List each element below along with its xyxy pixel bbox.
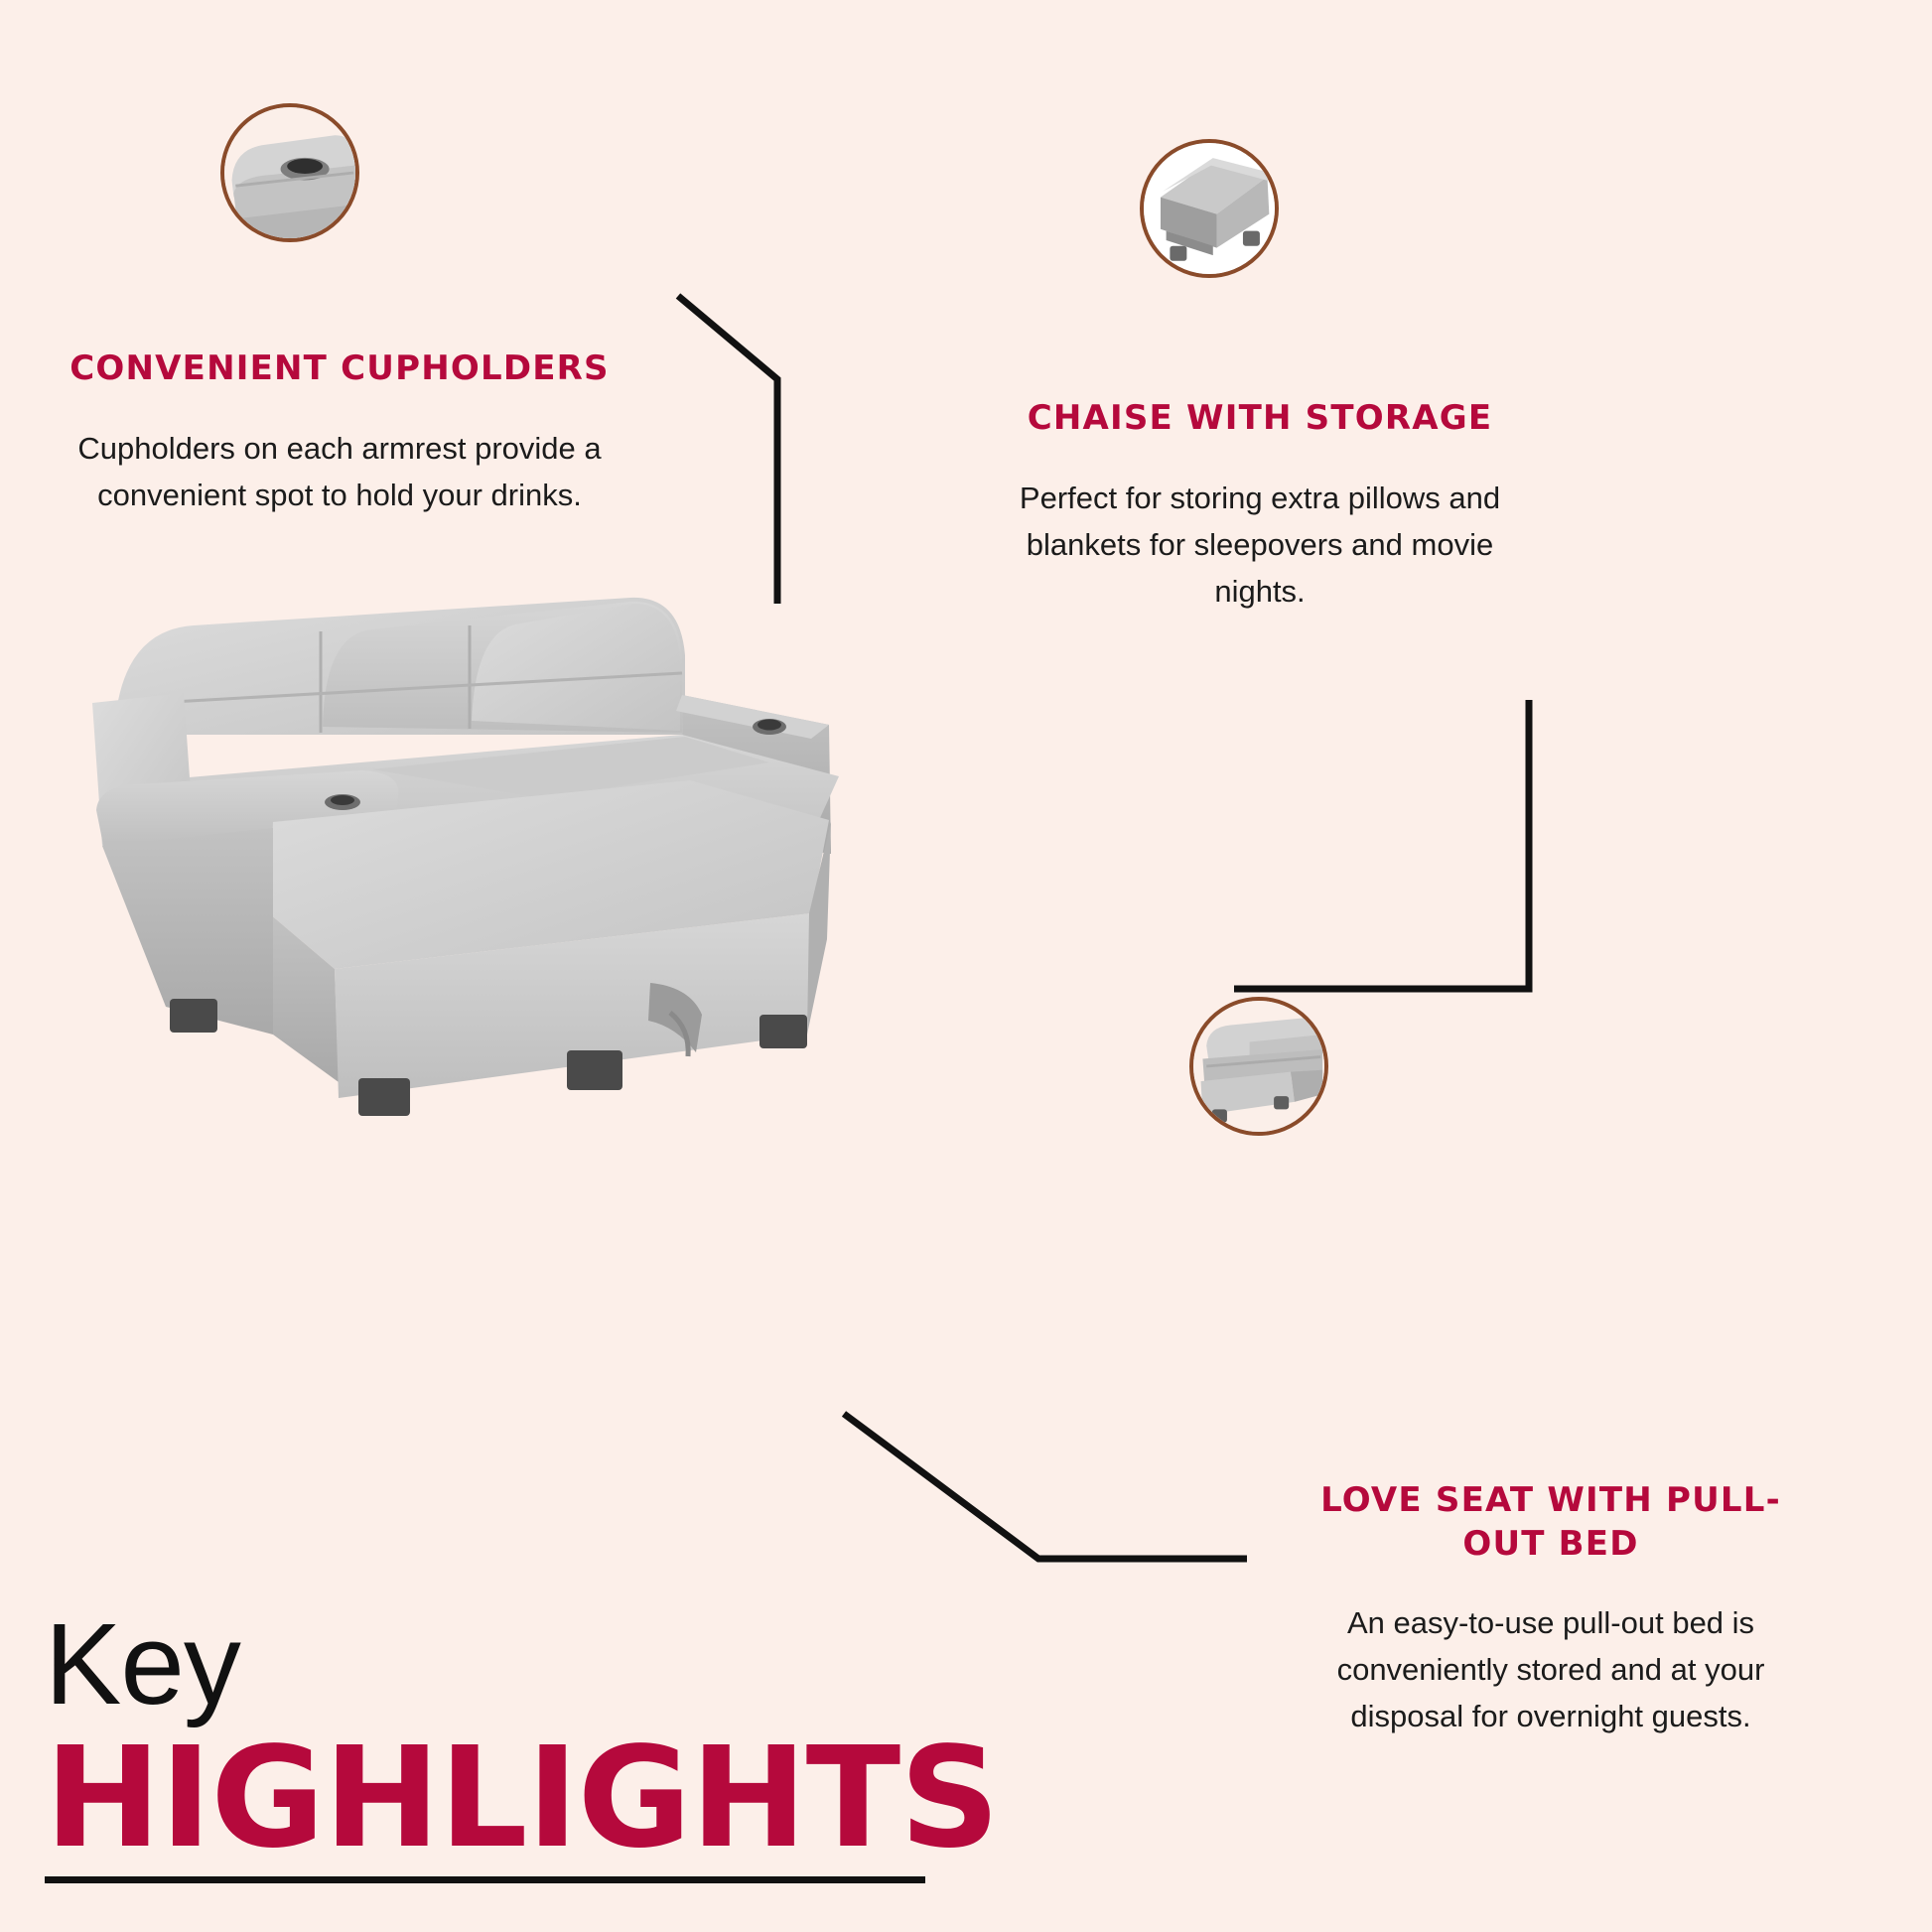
connector-chaise-storage	[1234, 700, 1529, 989]
product-image-sectional-sofa	[74, 586, 859, 1132]
icon-badge-cupholders	[220, 103, 359, 242]
connector-pullout-bed	[844, 1414, 1247, 1559]
icon-badge-pullout-bed	[1189, 997, 1328, 1136]
feature-block-cupholders: CONVENIENT CUPHOLDERS Cupholders on each…	[68, 347, 612, 518]
page-title: Key HIGHLIGHTS	[45, 1606, 999, 1872]
page-title-line2: HIGHLIGHTS	[45, 1725, 999, 1872]
feature-block-pullout-bed: LOVE SEAT WITH PULL-OUT BED An easy-to-u…	[1283, 1479, 1819, 1739]
feature-heading-pullout-bed: LOVE SEAT WITH PULL-OUT BED	[1283, 1479, 1819, 1566]
icon-badge-chaise-storage	[1140, 139, 1279, 278]
chaise-storage-icon	[1144, 143, 1275, 274]
feature-body-pullout-bed: An easy-to-use pull-out bed is convenien…	[1283, 1599, 1819, 1739]
title-underline	[45, 1876, 925, 1883]
armrest-cupholder-icon	[224, 107, 355, 238]
connector-cupholders	[678, 296, 777, 604]
feature-heading-cupholders: CONVENIENT CUPHOLDERS	[68, 347, 612, 391]
feature-body-cupholders: Cupholders on each armrest provide a con…	[68, 425, 612, 518]
page-title-line1: Key	[45, 1606, 999, 1722]
infographic-canvas: CONVENIENT CUPHOLDERS Cupholders on each…	[0, 0, 1932, 1932]
feature-heading-chaise-storage: CHAISE WITH STORAGE	[993, 397, 1527, 441]
pullout-bed-icon	[1193, 1001, 1324, 1132]
feature-body-chaise-storage: Perfect for storing extra pillows and bl…	[993, 475, 1527, 615]
feature-block-chaise-storage: CHAISE WITH STORAGE Perfect for storing …	[993, 397, 1527, 615]
